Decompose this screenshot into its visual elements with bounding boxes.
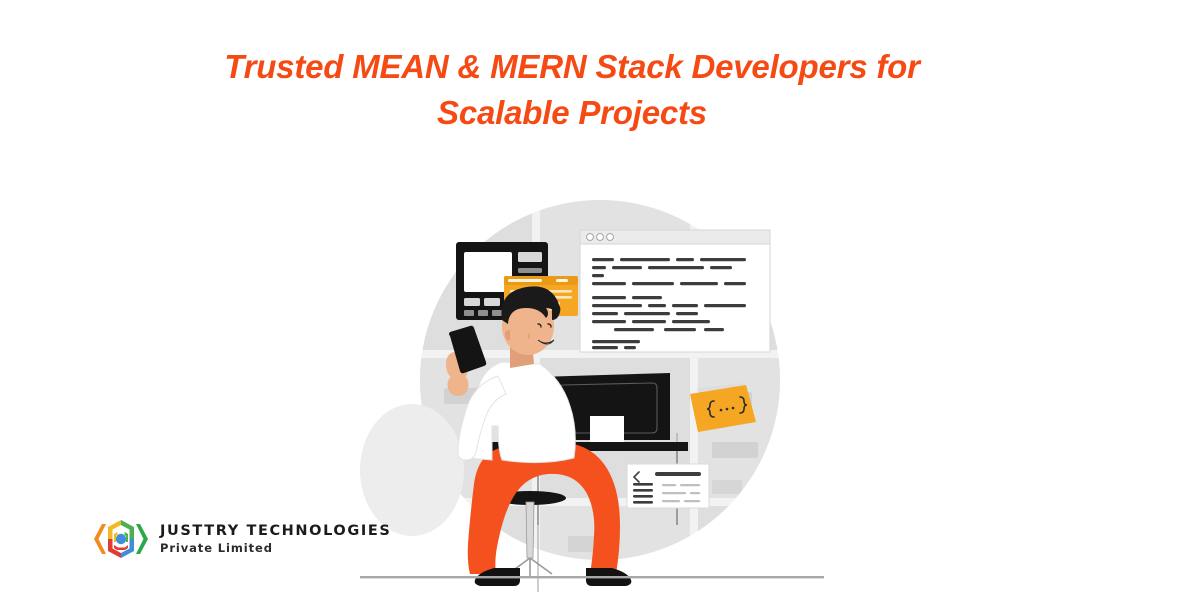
justtry-hexagon-logo-icon: [92, 512, 150, 566]
page-title-line-1: Trusted MEAN & MERN Stack Developers for: [224, 48, 920, 85]
code-browser-window: [580, 230, 770, 352]
brand-name: JUSTTRY TECHNOLOGIES: [160, 522, 391, 540]
developer-at-desk-illustration: [352, 180, 832, 600]
brand-logo-text: JUSTTRY TECHNOLOGIES Private Limited: [160, 522, 391, 556]
page-title: Trusted MEAN & MERN Stack Developers for…: [180, 44, 964, 136]
page-title-line-2: Scalable Projects: [437, 94, 707, 131]
ground-line: [360, 576, 824, 578]
brand-logo[interactable]: JUSTTRY TECHNOLOGIES Private Limited: [92, 512, 391, 566]
brand-subtitle: Private Limited: [160, 540, 391, 556]
list-card: [627, 464, 709, 508]
page-root: Trusted MEAN & MERN Stack Developers for…: [0, 0, 1200, 600]
